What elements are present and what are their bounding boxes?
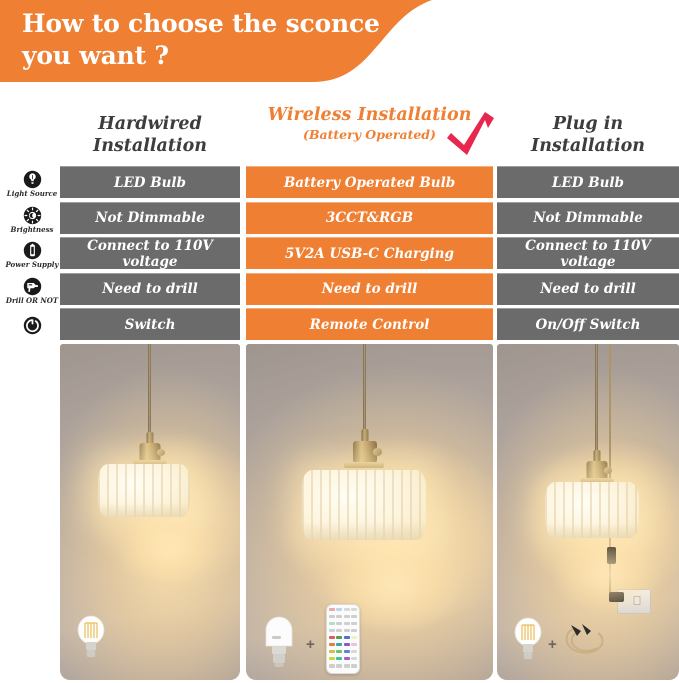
brass-socket: [138, 432, 162, 468]
cell-hardwired-power-supply: Connect to 110V voltage: [60, 237, 240, 269]
remote-control-accessory: [326, 604, 360, 674]
plus-separator: +: [306, 636, 315, 653]
cell-plugin-switch: On/Off Switch: [497, 308, 679, 340]
battery-icon: [23, 241, 42, 260]
row-label-brightness: Brightness: [11, 226, 54, 233]
brightness-icon: [23, 206, 42, 225]
row-label-drill: Drill OR NOT: [6, 297, 58, 304]
plug-in-pendant-lamp-photo: +: [497, 344, 679, 680]
brass-socket: [585, 450, 609, 486]
page-title: How to choose the sconce you want ?: [22, 8, 382, 72]
photo-row: +: [0, 344, 679, 683]
led-bulb-accessory: [511, 614, 545, 662]
lamp-cord: [595, 344, 598, 454]
plus-separator: +: [548, 636, 557, 653]
row-label-power-supply: Power Supply: [5, 261, 58, 268]
column-headers: Hardwired Installation Wireless Installa…: [0, 100, 679, 166]
cell-wireless-switch: Remote Control: [246, 308, 493, 340]
cell-hardwired-drill: Need to drill: [60, 273, 240, 305]
cell-wireless-power-supply: 5V2A USB-C Charging: [246, 237, 493, 269]
column-header-plugin: Plug in Installation: [497, 114, 679, 158]
cell-hardwired-light-source: LED Bulb: [60, 166, 240, 198]
column-header-wireless-title: Wireless Installation: [268, 105, 472, 125]
floor-glow: [537, 524, 677, 624]
row-icon-power-supply: Power Supply: [4, 237, 60, 273]
brass-socket: [352, 429, 378, 471]
header-banner: How to choose the sconce you want ?: [0, 0, 440, 90]
comparison-table: Light Source LED Bulb Battery Operated B…: [0, 166, 679, 344]
check-icon: [444, 108, 498, 162]
cell-hardwired-switch: Switch: [60, 308, 240, 340]
led-bulb-accessory: [74, 612, 108, 660]
lamp-cord: [148, 344, 151, 436]
cell-plugin-power-supply: Connect to 110V voltage: [497, 237, 679, 269]
column-header-hardwired: Hardwired Installation: [60, 114, 240, 158]
row-label-light-source: Light Source: [7, 190, 57, 197]
drill-icon: [23, 277, 42, 296]
battery-bulb-accessory: [260, 614, 298, 669]
floor-glow: [104, 504, 234, 594]
cell-wireless-drill: Need to drill: [246, 273, 493, 305]
lamp-cord: [363, 344, 366, 434]
row-icon-drill: Drill OR NOT: [4, 273, 60, 309]
cell-wireless-light-source: Battery Operated Bulb: [246, 166, 493, 198]
cell-hardwired-brightness: Not Dimmable: [60, 202, 240, 234]
plug-cord-accessory: [563, 619, 611, 663]
power-button-icon: [23, 316, 42, 335]
row-icon-light-source: Light Source: [4, 166, 60, 202]
wireless-pendant-lamp-photo: +: [246, 344, 493, 680]
cell-plugin-drill: Need to drill: [497, 273, 679, 305]
light-bulb-icon: [23, 170, 42, 189]
cell-wireless-brightness: 3CCT&RGB: [246, 202, 493, 234]
row-icon-power-button: [4, 308, 60, 344]
row-icon-brightness: Brightness: [4, 202, 60, 238]
cell-plugin-light-source: LED Bulb: [497, 166, 679, 198]
hardwired-pendant-lamp-photo: [60, 344, 240, 680]
cell-plugin-brightness: Not Dimmable: [497, 202, 679, 234]
